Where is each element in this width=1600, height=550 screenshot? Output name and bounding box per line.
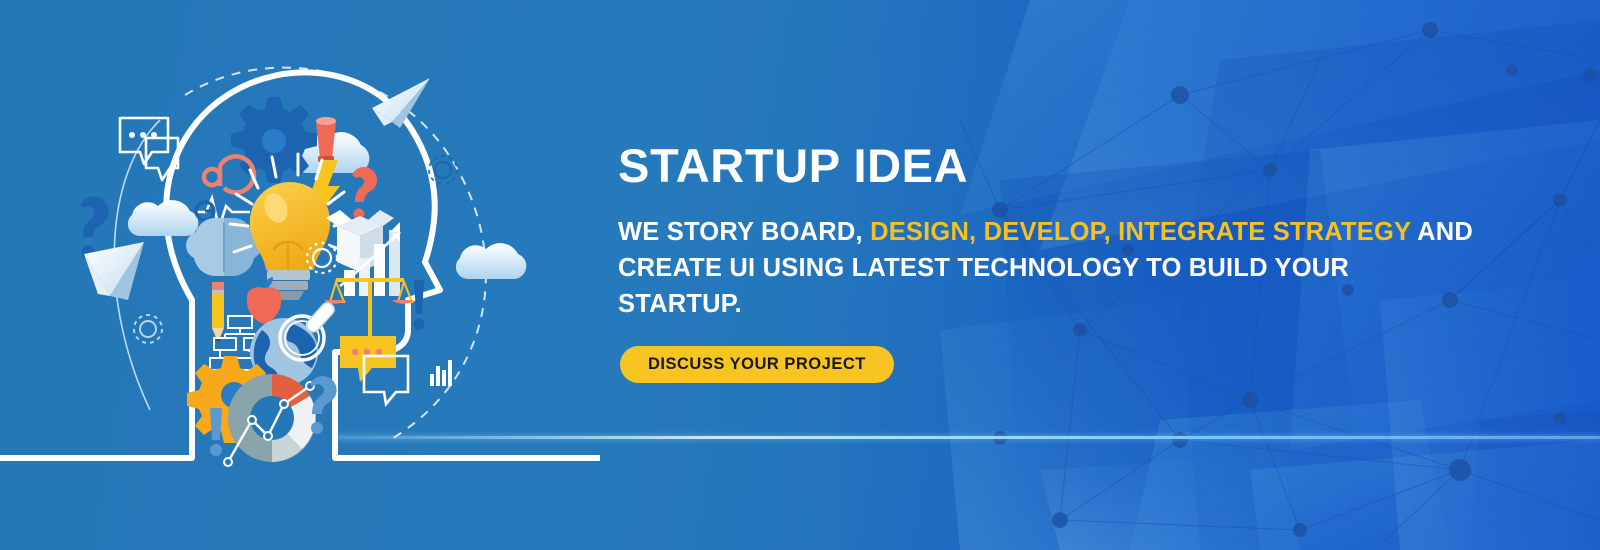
gear-icon [134,315,162,343]
small-bar-chart-icon [430,360,452,386]
paper-plane-icon [372,78,430,128]
subheading-lead: WE STORY BOARD, [618,218,870,246]
speech-bubble-dots-icon [129,132,157,138]
subheading-highlight: DESIGN, DEVELOP, INTEGRATE STRATEGY [870,218,1411,246]
cloud-icon [456,243,526,279]
exclamation-mark-icon [414,280,425,330]
donut-chart-icon [228,374,316,462]
hero-copy: STARTUP IDEA WE STORY BOARD, DESIGN, DEV… [618,140,1498,322]
hero-banner: STARTUP IDEA WE STORY BOARD, DESIGN, DEV… [0,0,1600,550]
exclamation-mark-icon [210,408,222,456]
question-mark-icon [80,196,109,258]
question-mark-icon [352,167,377,219]
pencil-icon [212,282,224,342]
discuss-your-project-button[interactable]: DISCUSS YOUR PROJECT [620,346,894,383]
lightbulb-icon [250,182,330,300]
cloud-icon [128,200,198,236]
gear-icon [429,156,457,184]
hero-subheading: WE STORY BOARD, DESIGN, DEVELOP, INTEGRA… [618,214,1478,322]
page-title: STARTUP IDEA [618,140,1498,192]
illustration-head-full-of-ideas [0,0,600,550]
at-sign-icon [204,156,254,192]
